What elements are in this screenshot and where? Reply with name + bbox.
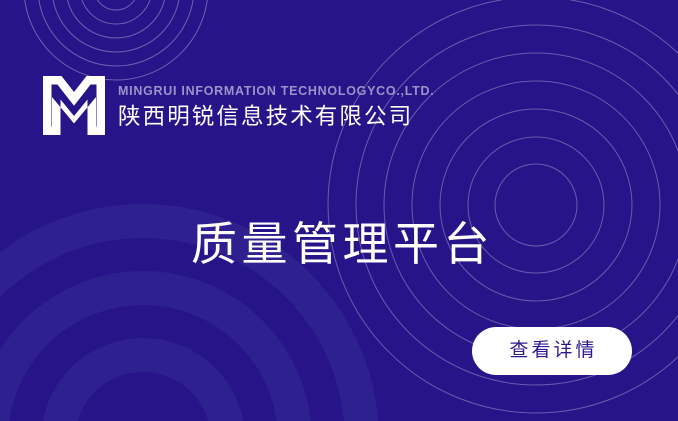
brand-lockup: MINGRUI INFORMATION TECHNOLOGYCO.,LTD. 陕… xyxy=(43,76,434,135)
brand-text-group: MINGRUI INFORMATION TECHNOLOGYCO.,LTD. 陕… xyxy=(118,83,434,129)
page-title: 质量管理平台 xyxy=(191,219,494,270)
company-name-chinese: 陕西明锐信息技术有限公司 xyxy=(118,106,434,129)
view-details-button[interactable]: 查看详情 xyxy=(472,327,632,375)
top-left-thin-rings xyxy=(24,0,208,80)
promo-banner: MINGRUI INFORMATION TECHNOLOGYCO.,LTD. 陕… xyxy=(0,0,678,421)
company-name-english: MINGRUI INFORMATION TECHNOLOGYCO.,LTD. xyxy=(118,85,434,98)
mingrui-m-logo-icon xyxy=(43,76,105,135)
